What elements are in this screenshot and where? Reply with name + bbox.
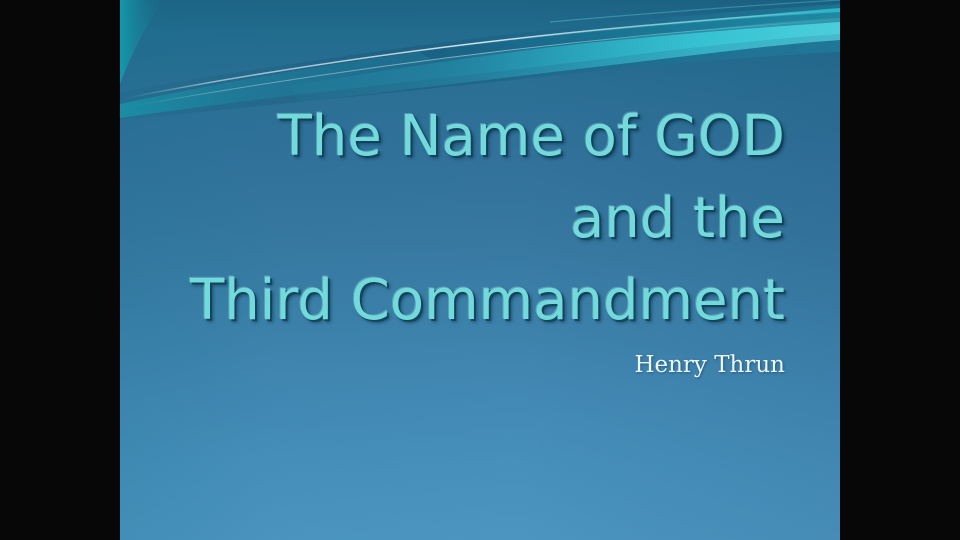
title-line-2: and the — [160, 178, 785, 260]
presentation-slide: The Name of GOD and the Third Commandmen… — [120, 0, 840, 540]
wave-dark-sliver — [420, 12, 840, 60]
screenshot-viewport: The Name of GOD and the Third Commandmen… — [0, 0, 960, 540]
wave-highlight-hairline — [126, 10, 840, 98]
letterbox-bar-left — [0, 0, 120, 540]
title-line-3: Third Commandment — [160, 260, 785, 342]
letterbox-bar-right — [840, 0, 960, 540]
wave-left-teal-wedge — [120, 0, 164, 84]
wave-highlight-hairline-secondary — [132, 20, 840, 106]
wave-bright-cyan-ribbon — [290, 18, 840, 102]
wave-upper-arc — [550, 0, 840, 22]
slide-subtitle-author: Henry Thrun — [160, 350, 785, 380]
title-line-1: The Name of GOD — [160, 96, 785, 178]
slide-title: The Name of GOD and the Third Commandmen… — [160, 96, 785, 342]
